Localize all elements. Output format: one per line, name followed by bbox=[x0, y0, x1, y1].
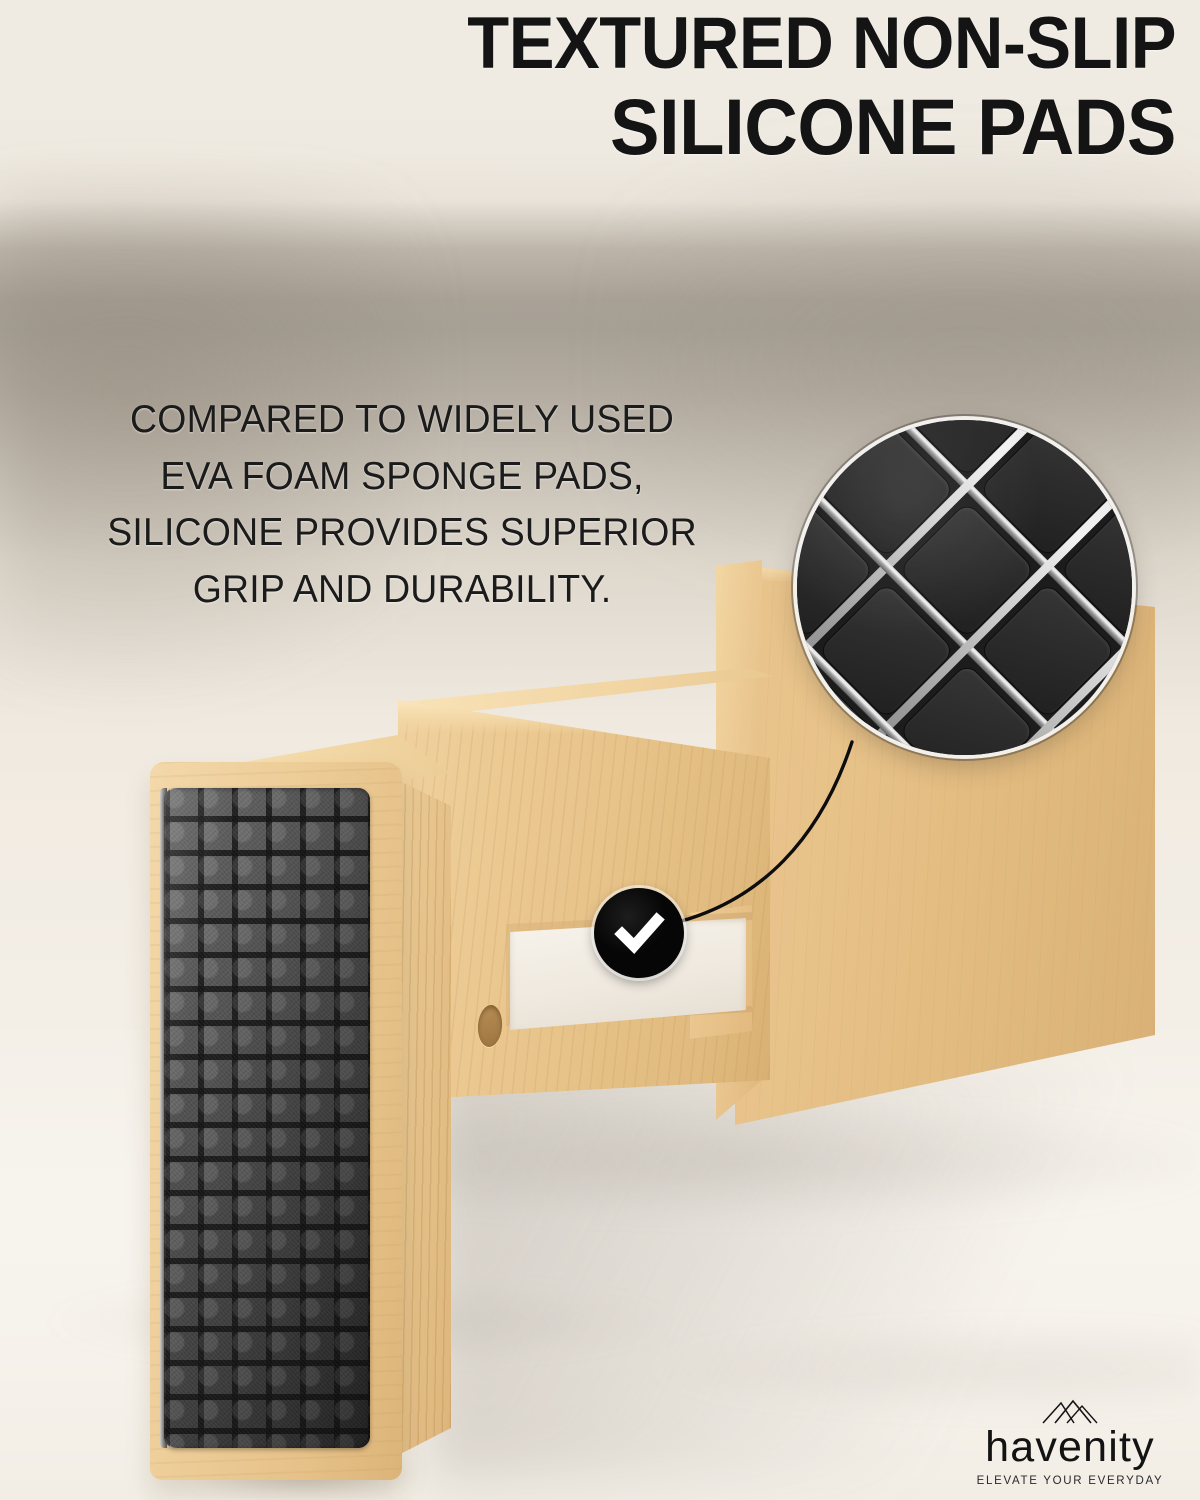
brand-tagline: ELEVATE YOUR EVERYDAY bbox=[962, 1475, 1178, 1487]
brand-wordmark: havenity bbox=[962, 1426, 1178, 1469]
textured-silicone-pad bbox=[164, 788, 370, 1448]
product-infographic: TEXTURED NON-SLIP SILICONE PADS COMPARED… bbox=[0, 0, 1200, 1500]
post-front-face bbox=[150, 762, 402, 1480]
body-copy-line-4: GRIP AND DURABILITY. bbox=[28, 562, 777, 619]
headline: TEXTURED NON-SLIP SILICONE PADS bbox=[316, 8, 1176, 165]
body-copy: COMPARED TO WIDELY USED EVA FOAM SPONGE … bbox=[12, 392, 792, 618]
body-copy-line-3: SILICONE PROVIDES SUPERIOR bbox=[28, 505, 777, 562]
body-copy-line-1: COMPARED TO WIDELY USED bbox=[28, 392, 777, 449]
mountain-peaks-icon bbox=[1041, 1398, 1099, 1424]
headline-line-1: TEXTURED NON-SLIP bbox=[368, 8, 1176, 80]
body-copy-line-2: EVA FOAM SPONGE PADS, bbox=[28, 449, 777, 506]
brand-logo: havenity ELEVATE YOUR EVERYDAY bbox=[962, 1398, 1178, 1487]
pad-shading bbox=[164, 788, 370, 1448]
check-icon bbox=[612, 906, 666, 960]
headline-line-2: SILICONE PADS bbox=[368, 88, 1176, 165]
magnified-tile-field bbox=[797, 420, 1132, 755]
silicone-pad-texture-closeup bbox=[797, 420, 1132, 755]
check-badge bbox=[594, 888, 684, 978]
